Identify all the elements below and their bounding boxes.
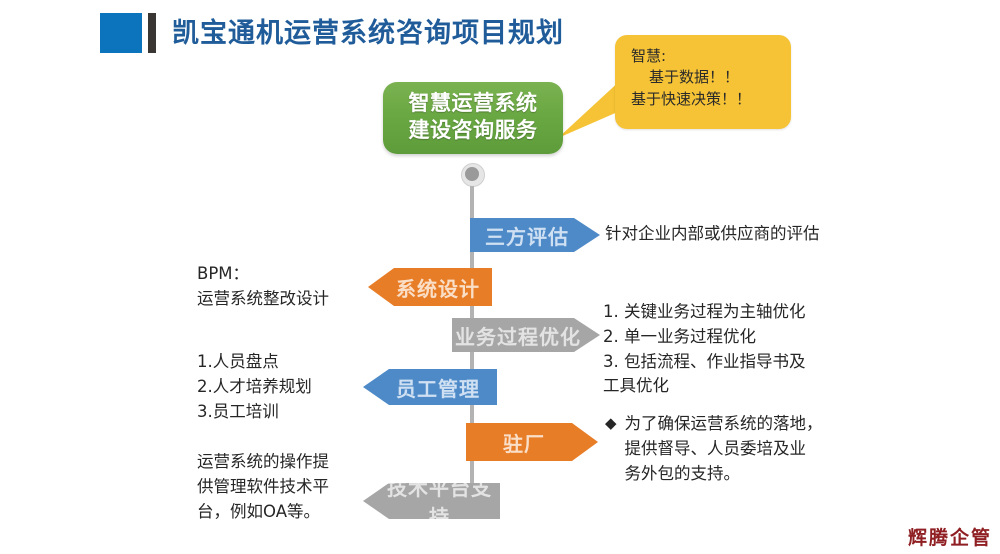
note-optimization-line-2: 2. 单一业务过程优化 <box>603 325 903 350</box>
note-support: ◆ 为了确保运营系统的落地， 提供督导、人员委培及业 务外包的支持。 <box>605 412 905 486</box>
arrow-label: 技术平台支持 <box>363 472 500 530</box>
note-assessment: 针对企业内部或供应商的评估 <box>605 222 915 247</box>
note-staff-line-3: 3.员工培训 <box>197 400 372 425</box>
note-platform-line-1: 运营系统的操作提 <box>197 450 372 475</box>
arrow-label: 驻厂 <box>466 428 598 457</box>
note-staff: 1.人员盘点 2.人才培养规划 3.员工培训 <box>197 350 372 424</box>
arrow-label: 三方评估 <box>470 221 600 250</box>
note-optimization-line-1: 1. 关键业务过程为主轴优化 <box>603 300 903 325</box>
hero-line-2: 建设咨询服务 <box>409 118 538 145</box>
note-bpm: BPM： 运营系统整改设计 <box>197 262 372 312</box>
company-logo-text: 辉腾企管 <box>908 523 992 550</box>
slide-title-row: 凯宝通机运营系统咨询项目规划 <box>100 12 564 54</box>
note-support-line-2: 提供督导、人员委培及业 <box>625 437 823 462</box>
note-bpm-line-1: BPM： <box>197 262 372 287</box>
note-support-line-1: 为了确保运营系统的落地， <box>625 412 823 437</box>
note-assessment-line-1: 针对企业内部或供应商的评估 <box>605 222 915 247</box>
note-support-line-3: 务外包的支持。 <box>625 462 823 487</box>
arrow-business-process-optimization[interactable]: 业务过程优化 <box>452 318 600 352</box>
note-bpm-line-2: 运营系统整改设计 <box>197 287 372 312</box>
callout-box: 智慧: 基于数据！！ 基于快速决策！！ <box>615 35 791 129</box>
title-accent-bar <box>148 13 156 53</box>
note-staff-line-1: 1.人员盘点 <box>197 350 372 375</box>
arrow-on-site-stationing[interactable]: 驻厂 <box>466 423 598 461</box>
hero-line-1: 智慧运营系统 <box>409 91 538 118</box>
note-platform: 运营系统的操作提 供管理软件技术平 台，例如OA等。 <box>197 450 372 524</box>
hero-box[interactable]: 智慧运营系统 建设咨询服务 <box>383 82 563 154</box>
connector-pin-dot-icon <box>465 167 479 181</box>
note-optimization-line-3: 3. 包括流程、作业指导书及 <box>603 350 903 375</box>
arrow-system-design[interactable]: 系统设计 <box>368 268 492 306</box>
callout-line-1: 智慧: <box>631 46 791 67</box>
diamond-bullet-icon: ◆ <box>605 412 617 486</box>
arrow-label: 业务过程优化 <box>452 321 600 350</box>
arrow-third-party-assessment[interactable]: 三方评估 <box>470 218 600 252</box>
note-optimization-line-4: 工具优化 <box>603 374 903 399</box>
arrow-tech-platform-support[interactable]: 技术平台支持 <box>363 483 500 519</box>
note-optimization: 1. 关键业务过程为主轴优化 2. 单一业务过程优化 3. 包括流程、作业指导书… <box>603 300 903 399</box>
callout-line-2: 基于数据！！ <box>631 67 791 88</box>
callout-text: 智慧: 基于数据！！ 基于快速决策！！ <box>615 35 791 110</box>
title-accent-square <box>100 13 142 53</box>
arrow-label: 员工管理 <box>363 373 497 402</box>
note-platform-line-2: 供管理软件技术平 <box>197 475 372 500</box>
callout-line-3: 基于快速决策！！ <box>631 89 791 110</box>
note-staff-line-2: 2.人才培养规划 <box>197 375 372 400</box>
page-title: 凯宝通机运营系统咨询项目规划 <box>172 20 564 47</box>
arrow-staff-management[interactable]: 员工管理 <box>363 369 497 405</box>
arrow-label: 系统设计 <box>368 273 492 302</box>
note-platform-line-3: 台，例如OA等。 <box>197 500 372 525</box>
slide-canvas: 凯宝通机运营系统咨询项目规划 智慧: 基于数据！！ 基于快速决策！！ 智慧运营系… <box>0 0 1000 554</box>
note-support-lines: 为了确保运营系统的落地， 提供督导、人员委培及业 务外包的支持。 <box>625 412 823 486</box>
